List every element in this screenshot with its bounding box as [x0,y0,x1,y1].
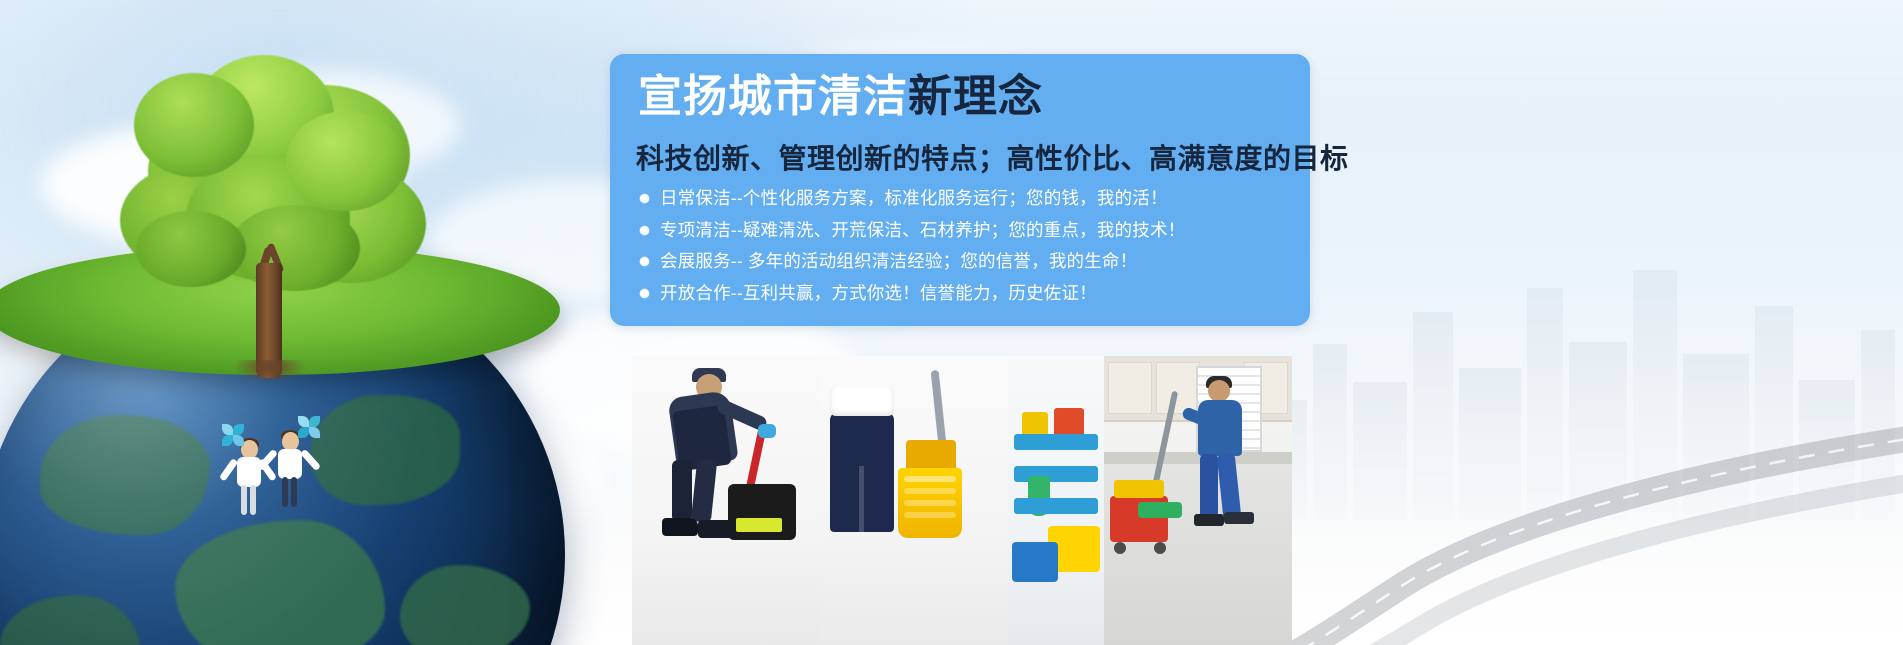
list-item: 日常保洁--个性化服务方案，标准化服务运行；您的钱，我的活！ [640,190,1300,208]
list-item-label: 会展服务-- 多年的活动组织清洁经验；您的信誉，我的生命！ [660,253,1137,271]
bullet-dot-icon [640,289,649,298]
earth-globe-illustration [0,185,580,645]
promo-card: 宣扬城市清洁新理念 科技创新、管理创新的特点；高性价比、高满意度的目标 日常保洁… [610,54,1310,326]
bullet-dot-icon [640,194,649,203]
page-title-rest: 新理念 [908,72,1043,121]
page-title-highlight: 宣扬城市清洁 [638,72,908,121]
feature-list: 日常保洁--个性化服务方案，标准化服务运行；您的钱，我的活！ 专项清洁--疑难清… [640,190,1300,316]
list-item-label: 日常保洁--个性化服务方案，标准化服务运行；您的钱，我的活！ [660,190,1168,208]
photo-worker-with-scrubbing-machine [632,356,820,645]
tree-illustration [90,15,450,365]
list-item: 开放合作--互利共赢，方式你选！信誉能力，历史佐证！ [640,285,1300,303]
pinwheel-icon [300,415,322,437]
bullet-dot-icon [640,257,649,266]
list-item-label: 开放合作--互利共赢，方式你选！信誉能力，历史佐证！ [660,285,1097,303]
photo-cleaning-cart [1008,356,1104,645]
page-subtitle: 科技创新、管理创新的特点；高性价比、高满意度的目标 [636,137,1349,177]
pinwheel-icon [224,423,246,445]
photo-strip [632,356,1292,645]
photo-worker-mopping-kitchen [1104,356,1292,645]
list-item: 会展服务-- 多年的活动组织清洁经验；您的信誉，我的生命！ [640,253,1300,271]
banner-stage: 宣扬城市清洁新理念 科技创新、管理创新的特点；高性价比、高满意度的目标 日常保洁… [0,0,1903,645]
list-item-label: 专项清洁--疑难清洗、开荒保洁、石材养护；您的重点，我的技术！ [660,222,1185,240]
page-title: 宣扬城市清洁新理念 [638,74,1043,120]
photo-mop-bucket-and-uniform [820,356,1008,645]
bullet-dot-icon [640,226,649,235]
list-item: 专项清洁--疑难清洗、开荒保洁、石材养护；您的重点，我的技术！ [640,222,1300,240]
road-illustration [1213,425,1903,645]
